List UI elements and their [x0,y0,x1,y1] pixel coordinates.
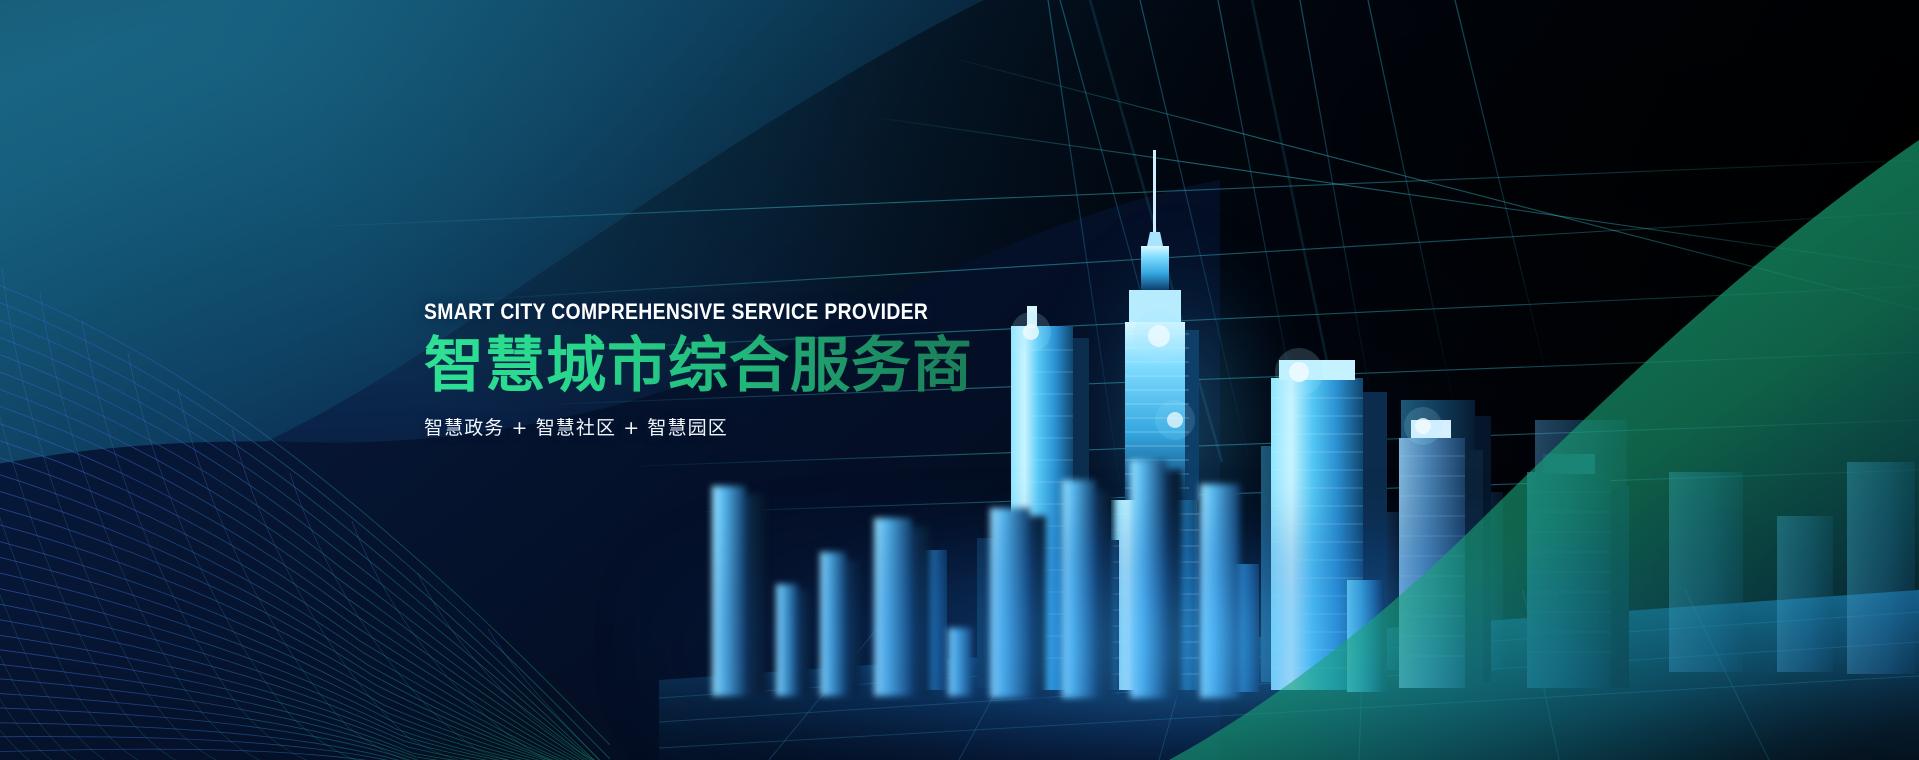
smart-city-hero-banner: SMART CITY COMPREHENSIVE SERVICE PROVIDE… [0,0,1919,760]
green-arc-overlay [1159,140,1919,760]
hero-headline: 智慧城市综合服务商 [424,334,997,399]
hero-subtitle: 智慧政务 + 智慧社区 + 智慧园区 [424,413,997,440]
hero-eyebrow-tagline: SMART CITY COMPREHENSIVE SERVICE PROVIDE… [424,300,928,324]
hero-text-block: SMART CITY COMPREHENSIVE SERVICE PROVIDE… [424,300,997,440]
